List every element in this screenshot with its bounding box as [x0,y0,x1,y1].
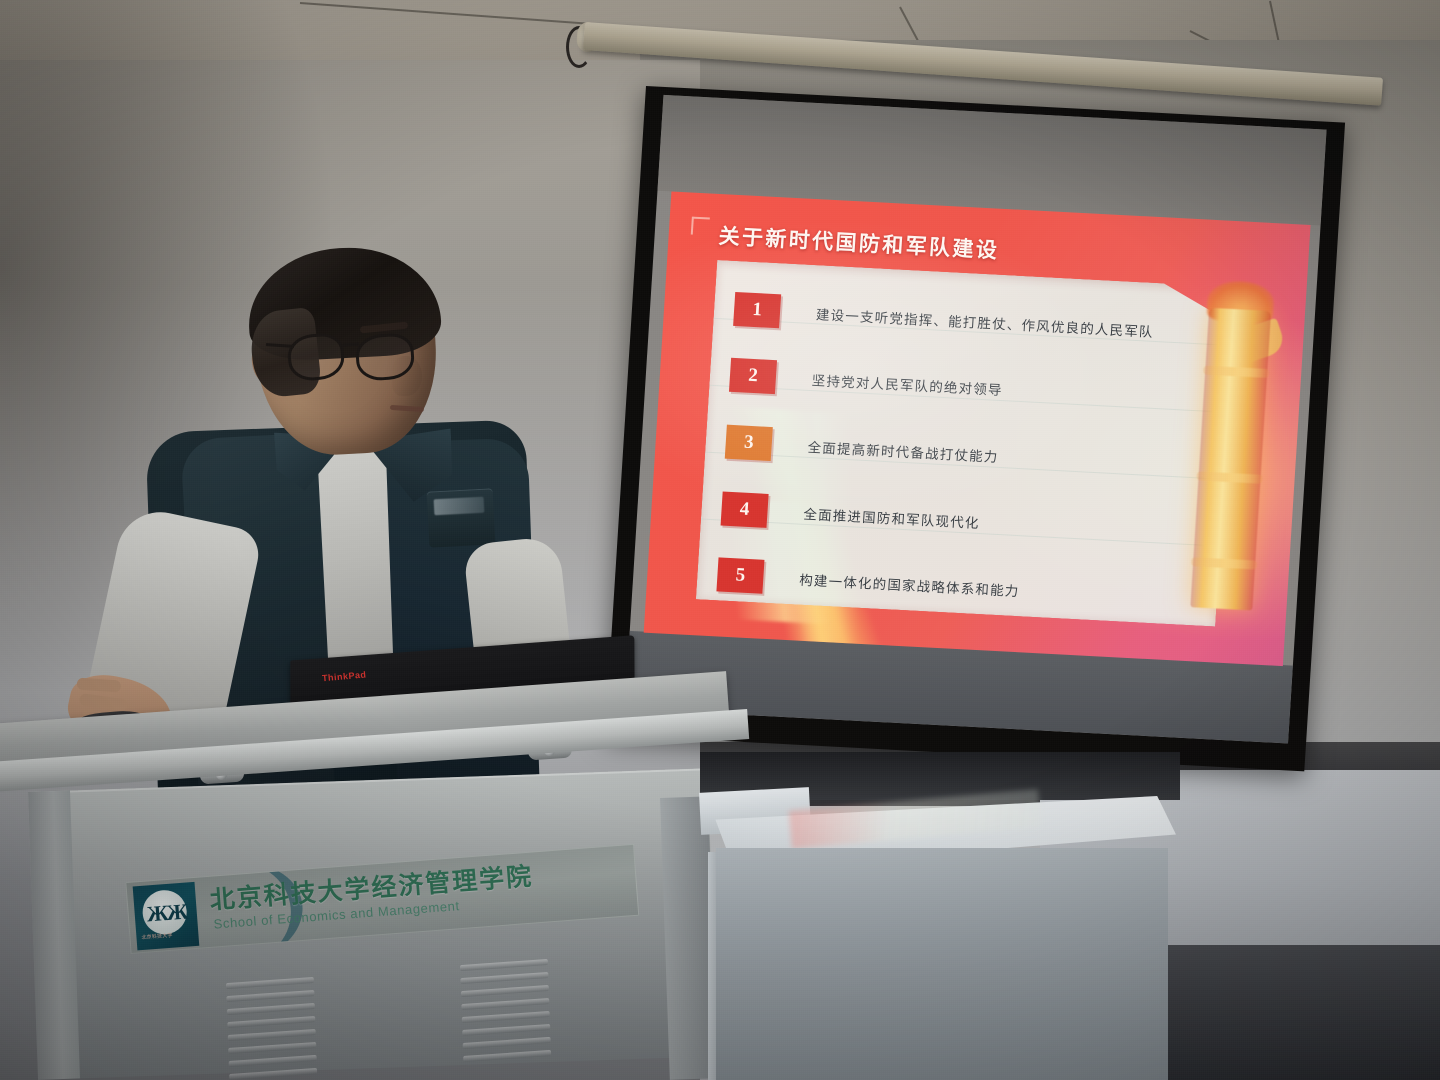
slide-item-badge: 1 [733,292,781,328]
slide-title: 关于新时代国防和军队建设 [718,220,1000,265]
slide-item-text: 构建一体化的国家战略体系和能力 [799,569,1020,601]
vest-pocket-tag [434,497,485,516]
lecture-room-photo: 关于新时代国防和军队建设 1 [0,0,1440,1080]
foreground-cabinet-body [716,848,1168,1080]
lectern-vent [460,961,552,1080]
slide-item-text: 建设一支听党指挥、能打胜仗、作风优良的人民军队 [815,303,1154,341]
slide-corner-mark [691,217,710,236]
logo-glyph: ЖЖ [146,901,186,934]
slide-item-text: 全面推进国防和军队现代化 [803,503,980,532]
presentation-slide: 关于新时代国防和军队建设 1 [644,191,1311,666]
lectern-vent [226,979,318,1080]
screen-canvas: 关于新时代国防和军队建设 1 [625,95,1327,744]
projection-screen[interactable]: 关于新时代国防和军队建设 1 [605,86,1345,771]
slide-item-text: 全面提高新时代备战打仗能力 [807,436,999,466]
slide-item-badge: 5 [716,557,764,593]
slide-item-badge: 4 [721,492,769,528]
floor-shadow [1160,945,1440,1080]
slide-item-badge: 3 [725,425,773,461]
slide-item-badge: 2 [729,358,777,394]
slide-item-text: 坚持党对人民军队的绝对领导 [811,369,1003,399]
university-logo: ЖЖ 北京科技大学 [133,882,200,950]
